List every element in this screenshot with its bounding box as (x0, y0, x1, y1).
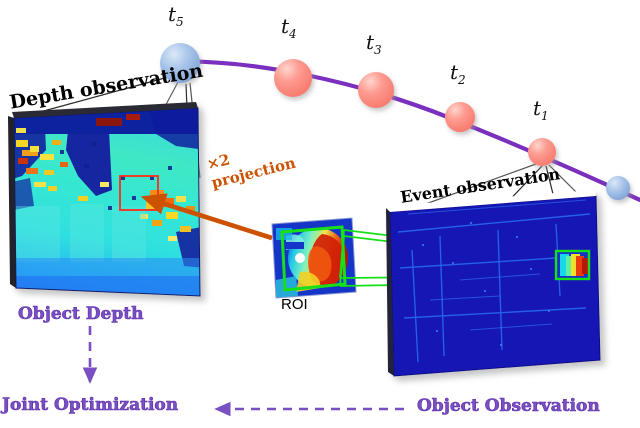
time-label-t2: t2 (450, 60, 466, 87)
time-label-t3: t3 (366, 30, 382, 57)
roi-caption: ROI (281, 296, 308, 313)
event-observation-caption: Event observation (399, 164, 561, 207)
time-label-t4: t4 (281, 14, 297, 41)
flow-label-joint-optimization: Joint Optimization (2, 395, 178, 415)
figure-canvas: t5 t4 t3 t2 t1 Depth observation Event o… (0, 0, 640, 428)
flow-label-object-depth: Object Depth (18, 304, 143, 324)
depth-observation-caption: Depth observation (8, 60, 205, 114)
time-label-t1: t1 (533, 96, 549, 123)
time-label-t5: t5 (168, 2, 184, 29)
flow-label-object-observation: Object Observation (417, 396, 600, 416)
projection-annotation: ×2 projection (205, 135, 298, 192)
text-layer: t5 t4 t3 t2 t1 Depth observation Event o… (0, 0, 640, 428)
